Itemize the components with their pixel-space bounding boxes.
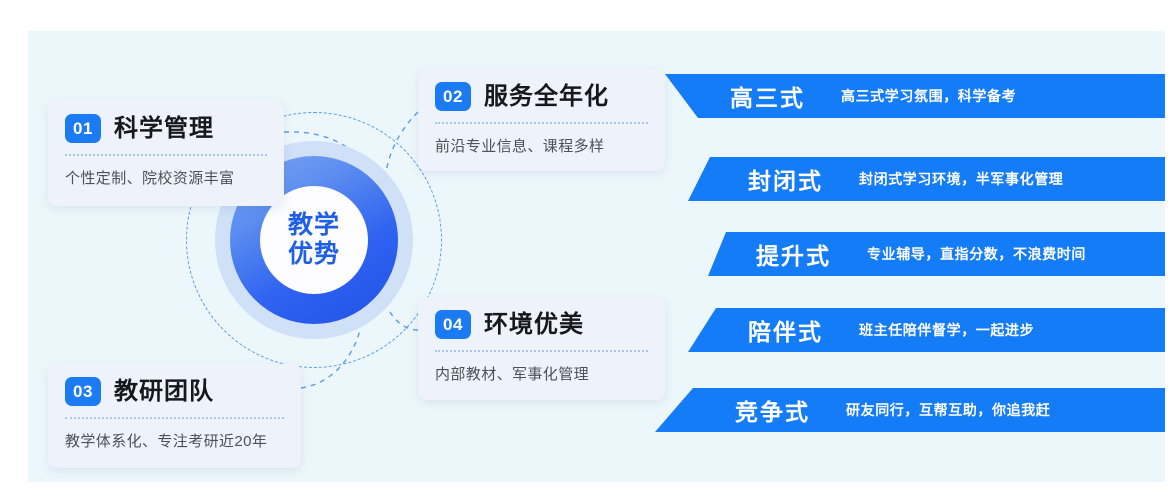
banner-title: 高三式 (730, 79, 805, 113)
banner-description: 研友同行，互帮互助，你追我赶 (846, 400, 1050, 420)
infographic-canvas: 教学 优势 01 科学管理 个性定制、院校资源丰富 02 服务全年化 前沿专业信… (0, 0, 1172, 503)
feature-card-3[interactable]: 03 教研团队 教学体系化、专注考研近20年 (48, 364, 301, 468)
banner-item-2[interactable]: 封闭式 封闭式学习环境，半军事化管理 (688, 157, 1165, 201)
banner-title: 封闭式 (748, 162, 823, 196)
card-subtitle: 前沿专业信息、课程多样 (435, 135, 648, 156)
card-header: 01 科学管理 (65, 114, 267, 143)
card-number-badge: 01 (65, 114, 101, 143)
feature-card-1[interactable]: 01 科学管理 个性定制、院校资源丰富 (48, 100, 284, 206)
card-header: 03 教研团队 (65, 377, 284, 406)
card-number-badge: 04 (435, 310, 471, 339)
card-subtitle: 内部教材、军事化管理 (435, 363, 648, 384)
card-number-badge: 02 (435, 82, 471, 111)
banner-item-4[interactable]: 陪伴式 班主任陪伴督学，一起进步 (688, 308, 1165, 352)
banner-description: 封闭式学习环境，半军事化管理 (859, 169, 1063, 189)
banner-item-5[interactable]: 竞争式 研友同行，互帮互助，你追我赶 (655, 388, 1165, 432)
card-divider (65, 417, 284, 419)
banner-description: 专业辅导，直指分数，不浪费时间 (867, 244, 1086, 264)
banner-item-1[interactable]: 高三式 高三式学习氛围，科学备考 (660, 74, 1165, 118)
hub-label-line1: 教学 (288, 211, 340, 240)
card-header: 04 环境优美 (435, 310, 648, 339)
card-divider (435, 122, 648, 124)
banner-title: 竞争式 (735, 393, 810, 427)
card-title: 服务全年化 (484, 85, 609, 109)
card-title: 环境优美 (484, 313, 584, 337)
banner-title: 陪伴式 (748, 313, 823, 347)
banner-item-3[interactable]: 提升式 专业辅导，直指分数，不浪费时间 (708, 232, 1165, 276)
card-divider (435, 350, 648, 352)
banner-description: 班主任陪伴督学，一起进步 (859, 320, 1034, 340)
card-divider (65, 154, 267, 156)
card-header: 02 服务全年化 (435, 82, 648, 111)
card-number-badge: 03 (65, 377, 101, 406)
banner-description: 高三式学习氛围，科学备考 (841, 86, 1016, 106)
feature-card-2[interactable]: 02 服务全年化 前沿专业信息、课程多样 (418, 69, 665, 171)
card-title: 科学管理 (114, 117, 214, 141)
hub-label-line2: 优势 (288, 240, 340, 269)
card-title: 教研团队 (114, 380, 214, 404)
feature-card-4[interactable]: 04 环境优美 内部教材、军事化管理 (418, 297, 665, 400)
card-subtitle: 个性定制、院校资源丰富 (65, 167, 267, 188)
banner-title: 提升式 (756, 237, 831, 271)
card-subtitle: 教学体系化、专注考研近20年 (65, 430, 284, 451)
